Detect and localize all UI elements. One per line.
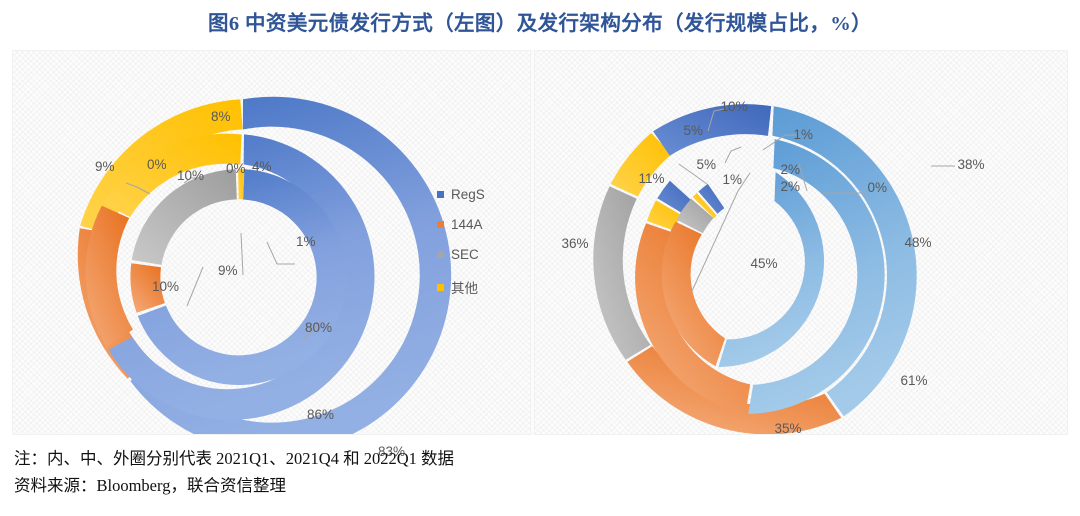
legend-label-other: 其他 xyxy=(451,277,478,297)
footer-source: 资料来源：Bloomberg，联合资信整理 xyxy=(14,473,1064,500)
data-label-inner-guaranteed: 48% xyxy=(905,235,932,250)
figure-title: 图6 中资美元债发行方式（左图）及发行架构分布（发行规模占比，%） xyxy=(0,6,1080,36)
legend-swatch-sec xyxy=(437,251,444,258)
legend-swatch-regs xyxy=(437,191,444,198)
data-label-outer-guar-slc: 5% xyxy=(684,123,704,138)
data-label-middle-guar-slc: 5% xyxy=(697,157,717,172)
data-label-middle-other: 2% xyxy=(781,162,801,177)
data-label-middle-slc: 0% xyxy=(868,180,888,195)
data-label-middle-regs: 86% xyxy=(307,407,334,422)
data-label-inner-regs: 80% xyxy=(305,320,332,335)
data-label-middle-direct: 35% xyxy=(775,421,802,436)
left-rings xyxy=(78,97,451,434)
legend-label-144a: 144A xyxy=(451,217,483,232)
right-chart-panel: 担保发行 直接发行 备用信用证 担保+备用信用证 其他 10% 5% 1% 5%… xyxy=(534,50,1068,435)
data-label-outer-other: 8% xyxy=(211,109,231,124)
data-label-outer-direct: 36% xyxy=(562,236,589,251)
data-label-inner-guar-slc: 1% xyxy=(723,172,743,187)
right-outer-other xyxy=(653,104,771,155)
legend-item-other[interactable]: 其他 xyxy=(437,277,485,297)
legend-swatch-other xyxy=(437,284,444,291)
data-label-outer-guaranteed: 38% xyxy=(958,157,985,172)
legend-swatch-144a xyxy=(437,221,444,228)
legend-item-144a[interactable]: 144A xyxy=(437,217,485,232)
left-chart-legend: RegS 144A SEC 其他 xyxy=(437,187,485,312)
legend-label-regs: RegS xyxy=(451,187,485,202)
data-label-inner-direct: 45% xyxy=(751,256,778,271)
data-label-outer-other: 10% xyxy=(721,99,748,114)
data-label-inner-slc: 2% xyxy=(781,179,801,194)
data-label-inner-other: 1% xyxy=(296,234,316,249)
legend-label-sec: SEC xyxy=(451,247,479,262)
footer: 注：内、中、外圈分别代表 2021Q1、2021Q4 和 2022Q1 数据 资… xyxy=(14,446,1064,499)
data-label-middle-guaranteed: 61% xyxy=(901,373,928,388)
left-chart-panel: RegS 144A SEC 其他 8% 0% 9% 10% 0% 4% 9% 1… xyxy=(12,50,531,435)
data-label-middle-sec: 0% xyxy=(226,161,246,176)
data-label-outer-sec: 0% xyxy=(147,157,167,172)
legend-item-regs[interactable]: RegS xyxy=(437,187,485,202)
data-label-middle-other: 4% xyxy=(252,159,272,174)
data-label-inner-sec: 9% xyxy=(218,263,238,278)
right-donut-chart xyxy=(535,51,1071,434)
data-label-inner-144a: 10% xyxy=(152,279,179,294)
data-label-middle-144a: 10% xyxy=(177,168,204,183)
data-label-inner-other: 1% xyxy=(794,127,814,142)
legend-item-sec[interactable]: SEC xyxy=(437,247,485,262)
charts-container: RegS 144A SEC 其他 8% 0% 9% 10% 0% 4% 9% 1… xyxy=(12,50,1068,435)
footer-note: 注：内、中、外圈分别代表 2021Q1、2021Q4 和 2022Q1 数据 xyxy=(14,446,1064,473)
data-label-outer-144a: 9% xyxy=(95,159,115,174)
data-label-outer-slc: 11% xyxy=(639,171,665,186)
left-ring-inner xyxy=(130,169,346,385)
